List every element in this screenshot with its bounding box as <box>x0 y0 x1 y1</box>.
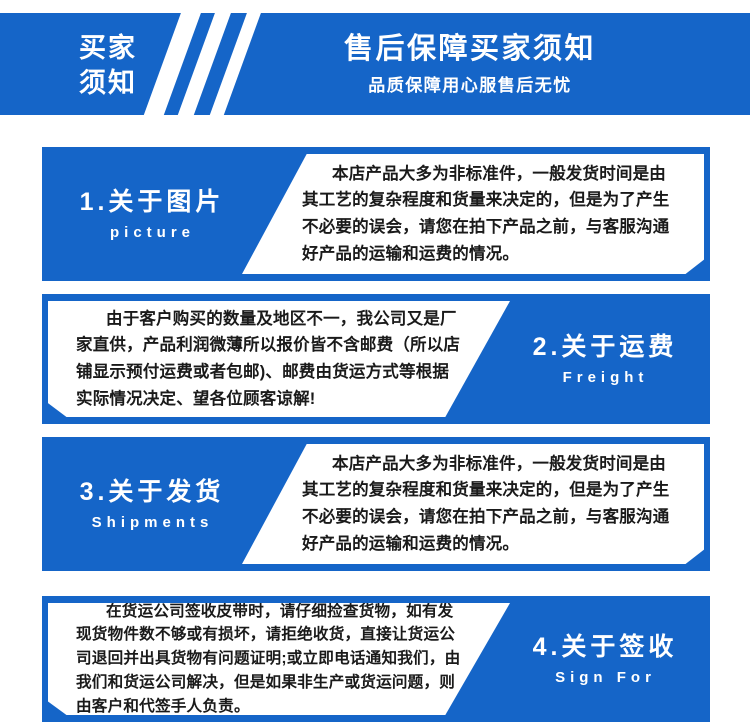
notice-block-4: 4.关于签收 Sign For 在货运公司签收皮带时，请仔细捡查货物，如有发现货… <box>42 596 710 722</box>
notice-title-en-4: Sign For <box>551 669 656 687</box>
header-bar: 买家 须知 售后保障买家须知 品质保障用心服售后无忧 <box>0 13 750 115</box>
notice-title-en-3: Shipments <box>88 514 214 532</box>
notice-title-cn-2: 2.关于运费 <box>530 332 678 362</box>
notice-panel-2: 由于客户购买的数量及地区不一，我公司又是厂家直供，产品利润微薄所以报价皆不含邮费… <box>48 301 510 417</box>
notice-body-3: 本店产品大多为非标准件，一般发货时间是由其工艺的复杂程度和货量来决定的，但是为了… <box>242 451 704 558</box>
notice-body-1: 本店产品大多为非标准件，一般发货时间是由其工艺的复杂程度和货量来决定的，但是为了… <box>242 161 704 268</box>
header-badge: 买家 须知 <box>48 29 168 103</box>
header-badge-line2: 须知 <box>79 66 137 101</box>
notice-label-3: 3.关于发货 Shipments <box>48 437 253 571</box>
notice-title-cn-1: 1.关于图片 <box>77 187 225 217</box>
header-badge-line1: 买家 <box>79 31 137 66</box>
notice-block-1: 1.关于图片 picture 本店产品大多为非标准件，一般发货时间是由其工艺的复… <box>42 147 710 281</box>
header-subtitle: 品质保障用心服售后无忧 <box>368 76 572 96</box>
notice-title-cn-4: 4.关于签收 <box>530 632 678 662</box>
notice-panel-4: 在货运公司签收皮带时，请仔细捡查货物，如有发现货物件数不够或有损坏，请拒绝收货，… <box>48 603 510 715</box>
notice-body-4: 在货运公司签收皮带时，请仔细捡查货物，如有发现货物件数不够或有损坏，请拒绝收货，… <box>48 600 510 718</box>
header-text-group: 售后保障买家须知 品质保障用心服售后无忧 <box>190 13 750 115</box>
notice-label-1: 1.关于图片 picture <box>48 147 253 281</box>
notice-title-cn-3: 3.关于发货 <box>77 477 225 507</box>
notice-label-4: 4.关于签收 Sign For <box>501 596 706 722</box>
notice-panel-1: 本店产品大多为非标准件，一般发货时间是由其工艺的复杂程度和货量来决定的，但是为了… <box>242 154 704 274</box>
notice-title-en-2: Freight <box>559 369 649 387</box>
notice-body-2: 由于客户购买的数量及地区不一，我公司又是厂家直供，产品利润微薄所以报价皆不含邮费… <box>48 306 510 413</box>
notice-panel-3: 本店产品大多为非标准件，一般发货时间是由其工艺的复杂程度和货量来决定的，但是为了… <box>242 444 704 564</box>
buyer-notice-banner: 买家 须知 售后保障买家须知 品质保障用心服售后无忧 1.关于图片 pictur… <box>0 0 750 726</box>
notice-title-en-1: picture <box>106 224 195 242</box>
notice-block-3: 3.关于发货 Shipments 本店产品大多为非标准件，一般发货时间是由其工艺… <box>42 437 710 571</box>
header-title: 售后保障买家须知 <box>344 32 596 67</box>
notice-block-2: 2.关于运费 Freight 由于客户购买的数量及地区不一，我公司又是厂家直供，… <box>42 294 710 424</box>
notice-label-2: 2.关于运费 Freight <box>501 294 706 424</box>
